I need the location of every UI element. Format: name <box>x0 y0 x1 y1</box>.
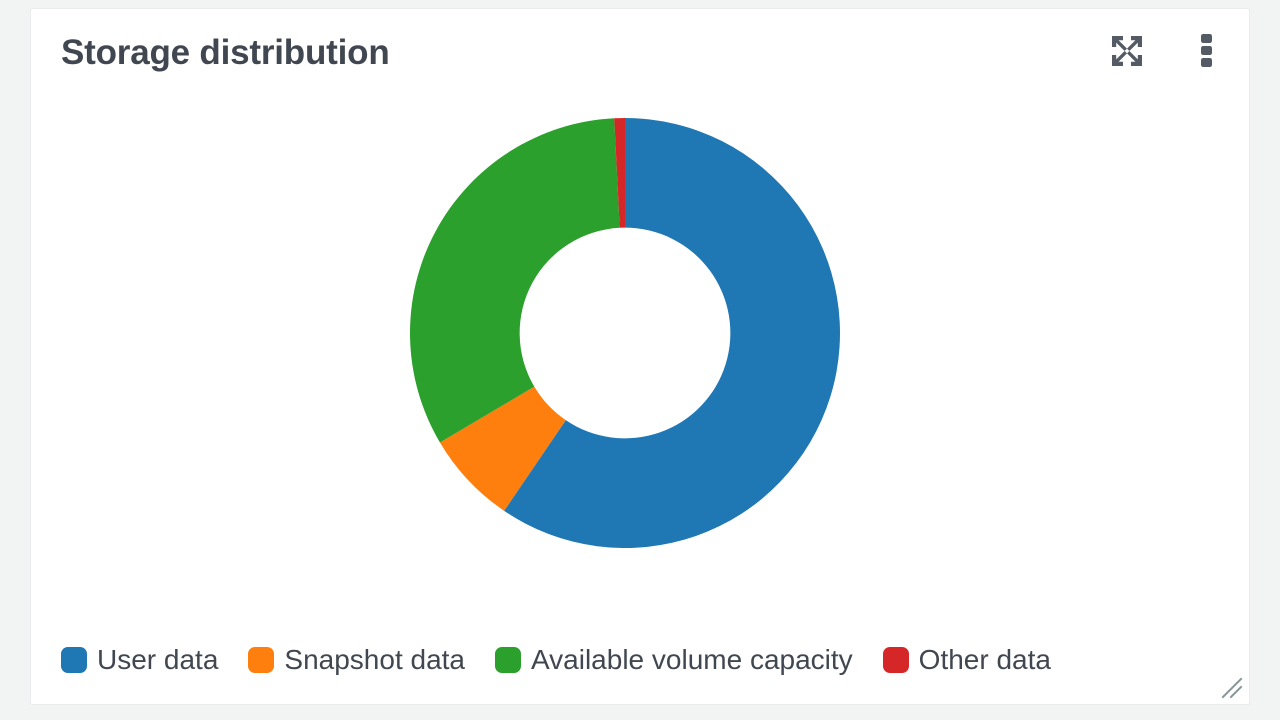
legend-swatch-icon <box>61 647 87 673</box>
legend-swatch-icon <box>883 647 909 673</box>
card-menu-button[interactable] <box>1185 29 1229 73</box>
donut-slice[interactable] <box>410 118 620 442</box>
legend-label: User data <box>97 646 218 674</box>
legend-label: Available volume capacity <box>531 646 853 674</box>
legend-swatch-icon <box>248 647 274 673</box>
storage-distribution-card: Storage distribution <box>30 8 1250 705</box>
legend-item[interactable]: Other data <box>883 646 1051 674</box>
expand-icon <box>1110 34 1144 68</box>
expand-button[interactable] <box>1105 29 1149 73</box>
legend-item[interactable]: Available volume capacity <box>495 646 853 674</box>
page-title: Storage distribution <box>61 33 390 73</box>
card-header: Storage distribution <box>31 9 1249 105</box>
resize-grip-icon[interactable] <box>1219 675 1245 701</box>
page-root: Storage distribution <box>0 0 1280 720</box>
chart-area <box>31 105 1249 615</box>
storage-distribution-donut-chart[interactable] <box>405 113 845 553</box>
card-header-actions <box>1105 29 1229 73</box>
legend-label: Snapshot data <box>284 646 465 674</box>
chart-legend: User dataSnapshot dataAvailable volume c… <box>61 646 1051 674</box>
legend-item[interactable]: User data <box>61 646 218 674</box>
legend-swatch-icon <box>495 647 521 673</box>
more-vertical-icon <box>1201 33 1213 69</box>
legend-label: Other data <box>919 646 1051 674</box>
legend-item[interactable]: Snapshot data <box>248 646 465 674</box>
